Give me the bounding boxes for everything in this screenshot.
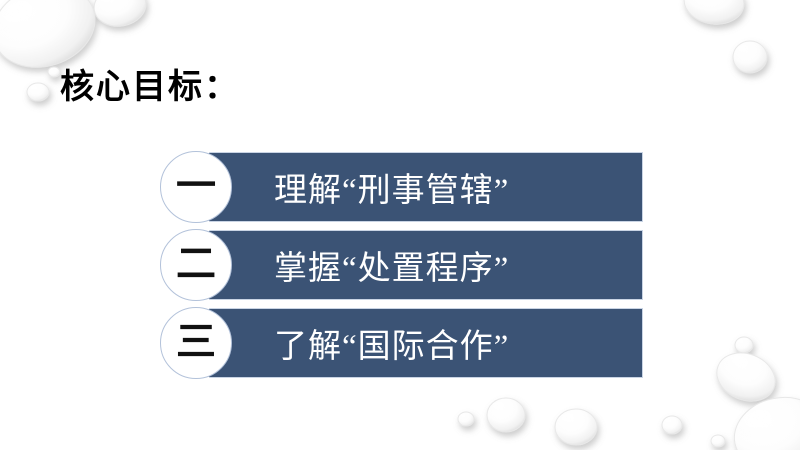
objective-label: 掌握“处置程序” [274, 230, 509, 300]
objective-numeral: 二 [176, 244, 216, 284]
objective-number-badge: 一 [160, 151, 232, 223]
list-item[interactable]: 理解“刑事管辖” 一 [0, 152, 800, 222]
objective-label: 了解“国际合作” [274, 308, 509, 378]
list-item[interactable]: 了解“国际合作” 三 [0, 308, 800, 378]
page-title: 核心目标： [60, 66, 240, 110]
slide-canvas: 核心目标： 理解“刑事管辖” 一 掌握“处置程序” 二 了解“国际合作” 三 [0, 0, 800, 450]
objective-numeral: 一 [176, 166, 216, 206]
objective-label: 理解“刑事管辖” [274, 152, 509, 222]
objective-numeral: 三 [176, 322, 216, 362]
objectives-list: 理解“刑事管辖” 一 掌握“处置程序” 二 了解“国际合作” 三 [0, 152, 800, 378]
list-item[interactable]: 掌握“处置程序” 二 [0, 230, 800, 300]
objective-number-badge: 二 [160, 229, 232, 301]
objective-number-badge: 三 [160, 307, 232, 379]
